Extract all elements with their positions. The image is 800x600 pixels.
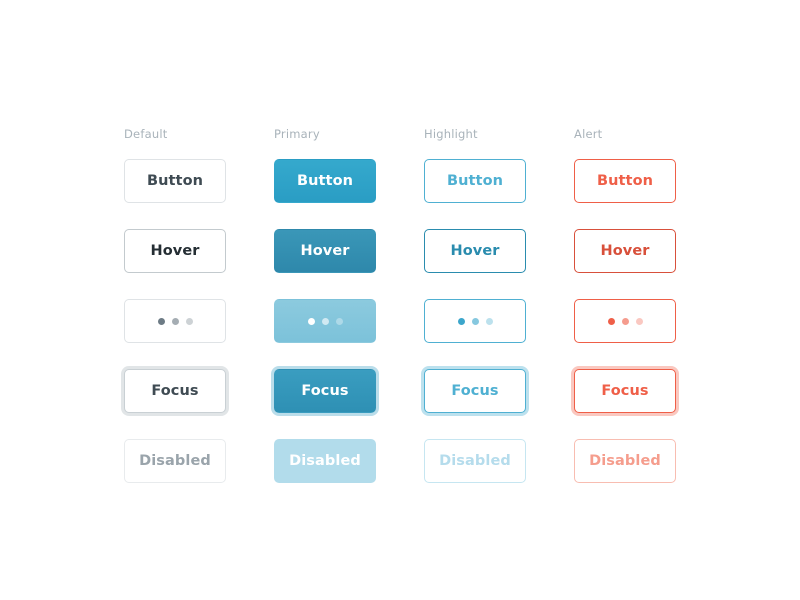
button-label: Focus xyxy=(301,383,348,399)
button-label: Hover xyxy=(450,243,499,259)
column-header-alert: Alert xyxy=(574,122,724,146)
button-label: Focus xyxy=(451,383,498,399)
button-highlight-default[interactable]: Button xyxy=(424,159,526,203)
button-default-focus[interactable]: Focus xyxy=(124,369,226,413)
button-label: Button xyxy=(297,173,353,189)
cell-default-hover: Hover xyxy=(124,216,274,286)
loading-dot-2 xyxy=(622,318,629,325)
button-label: Disabled xyxy=(139,453,211,469)
button-primary-hover[interactable]: Hover xyxy=(274,229,376,273)
button-label: Button xyxy=(597,173,653,189)
variant-column-default: Default Button Hover xyxy=(124,122,274,496)
loading-dots-icon xyxy=(458,318,493,325)
loading-dot-3 xyxy=(636,318,643,325)
loading-dot-1 xyxy=(158,318,165,325)
cell-primary-hover: Hover xyxy=(274,216,424,286)
loading-dot-2 xyxy=(472,318,479,325)
variant-column-primary: Primary Button Hover xyxy=(274,122,424,496)
cell-highlight-hover: Hover xyxy=(424,216,574,286)
button-label: Button xyxy=(447,173,503,189)
cell-default-disabled: Disabled xyxy=(124,426,274,496)
button-label: Hover xyxy=(300,243,349,259)
cell-default-default: Button xyxy=(124,146,274,216)
button-label: Disabled xyxy=(589,453,661,469)
loading-dot-2 xyxy=(322,318,329,325)
button-alert-default[interactable]: Button xyxy=(574,159,676,203)
cell-primary-disabled: Disabled xyxy=(274,426,424,496)
loading-dot-3 xyxy=(486,318,493,325)
button-matrix: Default Button Hover xyxy=(124,122,724,496)
variant-column-highlight: Highlight Button Hover xyxy=(424,122,574,496)
button-alert-hover[interactable]: Hover xyxy=(574,229,676,273)
loading-dots-icon xyxy=(608,318,643,325)
loading-dot-1 xyxy=(608,318,615,325)
button-label: Button xyxy=(147,173,203,189)
button-alert-focus[interactable]: Focus xyxy=(574,369,676,413)
button-highlight-loading[interactable] xyxy=(424,299,526,343)
cell-highlight-loading xyxy=(424,286,574,356)
button-default-default[interactable]: Button xyxy=(124,159,226,203)
button-highlight-focus[interactable]: Focus xyxy=(424,369,526,413)
cell-alert-hover: Hover xyxy=(574,216,724,286)
loading-dot-1 xyxy=(458,318,465,325)
cell-default-loading xyxy=(124,286,274,356)
variant-column-alert: Alert Button Hover xyxy=(574,122,724,496)
loading-dot-2 xyxy=(172,318,179,325)
button-default-loading[interactable] xyxy=(124,299,226,343)
button-alert-disabled: Disabled xyxy=(574,439,676,483)
button-primary-focus[interactable]: Focus xyxy=(274,369,376,413)
button-highlight-disabled: Disabled xyxy=(424,439,526,483)
cell-alert-disabled: Disabled xyxy=(574,426,724,496)
cell-alert-focus: Focus xyxy=(574,356,724,426)
loading-dots-icon xyxy=(158,318,193,325)
cell-primary-default: Button xyxy=(274,146,424,216)
button-primary-loading[interactable] xyxy=(274,299,376,343)
cell-highlight-default: Button xyxy=(424,146,574,216)
button-alert-loading[interactable] xyxy=(574,299,676,343)
button-label: Focus xyxy=(601,383,648,399)
column-header-highlight: Highlight xyxy=(424,122,574,146)
button-label: Disabled xyxy=(289,453,361,469)
column-header-primary: Primary xyxy=(274,122,424,146)
button-label: Disabled xyxy=(439,453,511,469)
button-highlight-hover[interactable]: Hover xyxy=(424,229,526,273)
cell-alert-default: Button xyxy=(574,146,724,216)
cell-primary-focus: Focus xyxy=(274,356,424,426)
cell-highlight-focus: Focus xyxy=(424,356,574,426)
cell-default-focus: Focus xyxy=(124,356,274,426)
button-default-hover[interactable]: Hover xyxy=(124,229,226,273)
loading-dot-3 xyxy=(336,318,343,325)
column-header-default: Default xyxy=(124,122,274,146)
button-style-guide: Default Button Hover xyxy=(0,0,800,600)
button-default-disabled: Disabled xyxy=(124,439,226,483)
button-label: Hover xyxy=(150,243,199,259)
button-primary-disabled: Disabled xyxy=(274,439,376,483)
loading-dot-1 xyxy=(308,318,315,325)
loading-dot-3 xyxy=(186,318,193,325)
button-primary-default[interactable]: Button xyxy=(274,159,376,203)
cell-primary-loading xyxy=(274,286,424,356)
cell-highlight-disabled: Disabled xyxy=(424,426,574,496)
loading-dots-icon xyxy=(308,318,343,325)
button-label: Hover xyxy=(600,243,649,259)
button-label: Focus xyxy=(151,383,198,399)
cell-alert-loading xyxy=(574,286,724,356)
